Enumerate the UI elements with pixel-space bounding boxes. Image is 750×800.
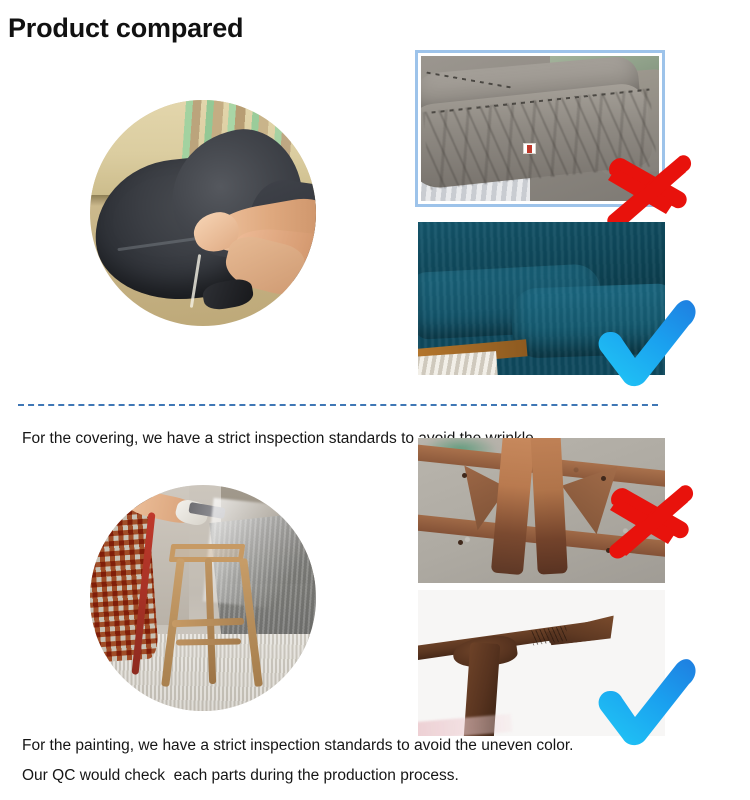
painting-process-image — [90, 485, 316, 711]
caption-painting-primary: For the painting, we have a strict inspe… — [22, 736, 573, 756]
covering-process-image — [90, 100, 316, 326]
covering-reject-photo-frame — [415, 50, 665, 207]
covering-reject-photo — [421, 56, 659, 201]
brand-label-tag — [523, 143, 536, 154]
concrete-speckle — [418, 438, 665, 583]
page-title: Product compared — [8, 10, 243, 46]
pink-reflection — [418, 714, 512, 736]
circle-photo-painting — [90, 485, 316, 711]
covering-approve-photo-frame — [418, 222, 665, 375]
painting-approve-photo-frame — [418, 590, 665, 736]
teal-velvet-sofa-image — [418, 222, 665, 375]
circle-photo-covering — [90, 100, 316, 326]
section-covering: For the covering, we have a strict inspe… — [0, 48, 750, 393]
painting-approve-photo — [418, 590, 665, 736]
section-painting — [0, 430, 750, 740]
caption-painting-secondary: Our QC would check each parts during the… — [22, 766, 459, 786]
uneven-color-frame-image — [418, 438, 665, 583]
stool-stretcher-lower — [176, 638, 241, 645]
painting-reject-photo — [418, 438, 665, 583]
covering-approve-photo — [418, 222, 665, 375]
painting-reject-photo-frame — [418, 438, 665, 583]
wooden-stool-frame — [167, 544, 257, 684]
section-divider — [18, 404, 658, 406]
walnut-leg-joint-image — [418, 590, 665, 736]
grey-velvet-sofa-image — [421, 56, 659, 201]
